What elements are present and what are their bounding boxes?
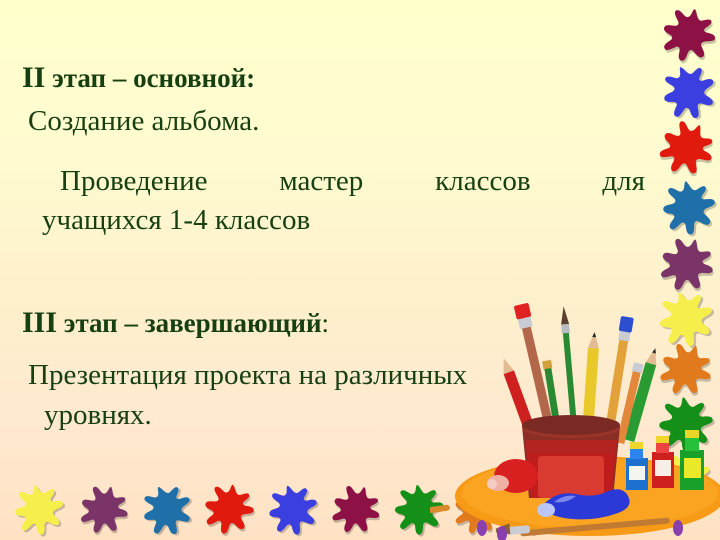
splat-purple-icon	[71, 475, 140, 540]
stage3-item-1: Презентация проекта на различных	[28, 360, 467, 390]
stage2-numeral: II	[22, 61, 45, 94]
word-dlya: для	[602, 166, 645, 197]
stage3-heading-text: этап – завершающий	[57, 308, 321, 338]
red-paint-blob	[487, 459, 538, 493]
pencil-cup-illustration	[430, 300, 720, 540]
splat-steelblue-icon	[131, 471, 207, 540]
word-klassov: классов	[435, 166, 530, 197]
pencil-stub	[430, 504, 450, 513]
pencil-cup	[522, 415, 620, 498]
stage3-heading: III этап – завершающий:	[22, 307, 329, 339]
splat-blue-icon	[260, 474, 330, 540]
splat-yellow-icon	[7, 475, 74, 540]
word-provedenie: Проведение	[60, 166, 208, 197]
splat-maroon-icon	[322, 474, 394, 540]
word-master: мастер	[279, 166, 363, 197]
stage2-item-2-line-1: Проведение мастер классов для	[60, 166, 645, 197]
stage2-heading: II этап – основной:	[22, 62, 255, 94]
splat-red-icon	[198, 476, 264, 540]
stage2-heading-text: этап – основной:	[45, 63, 255, 93]
paint-bottles	[626, 430, 704, 490]
stage2-item-2-line-2: учащихся 1-4 классов	[42, 205, 310, 236]
stage3-item-2: уровнях.	[44, 400, 152, 430]
stage2-item-1: Создание альбома.	[28, 106, 259, 136]
stage3-numeral: III	[22, 306, 57, 339]
stage3-heading-colon: :	[322, 308, 330, 338]
slide-canvas: II этап – основной: Создание альбома. Пр…	[0, 0, 720, 540]
